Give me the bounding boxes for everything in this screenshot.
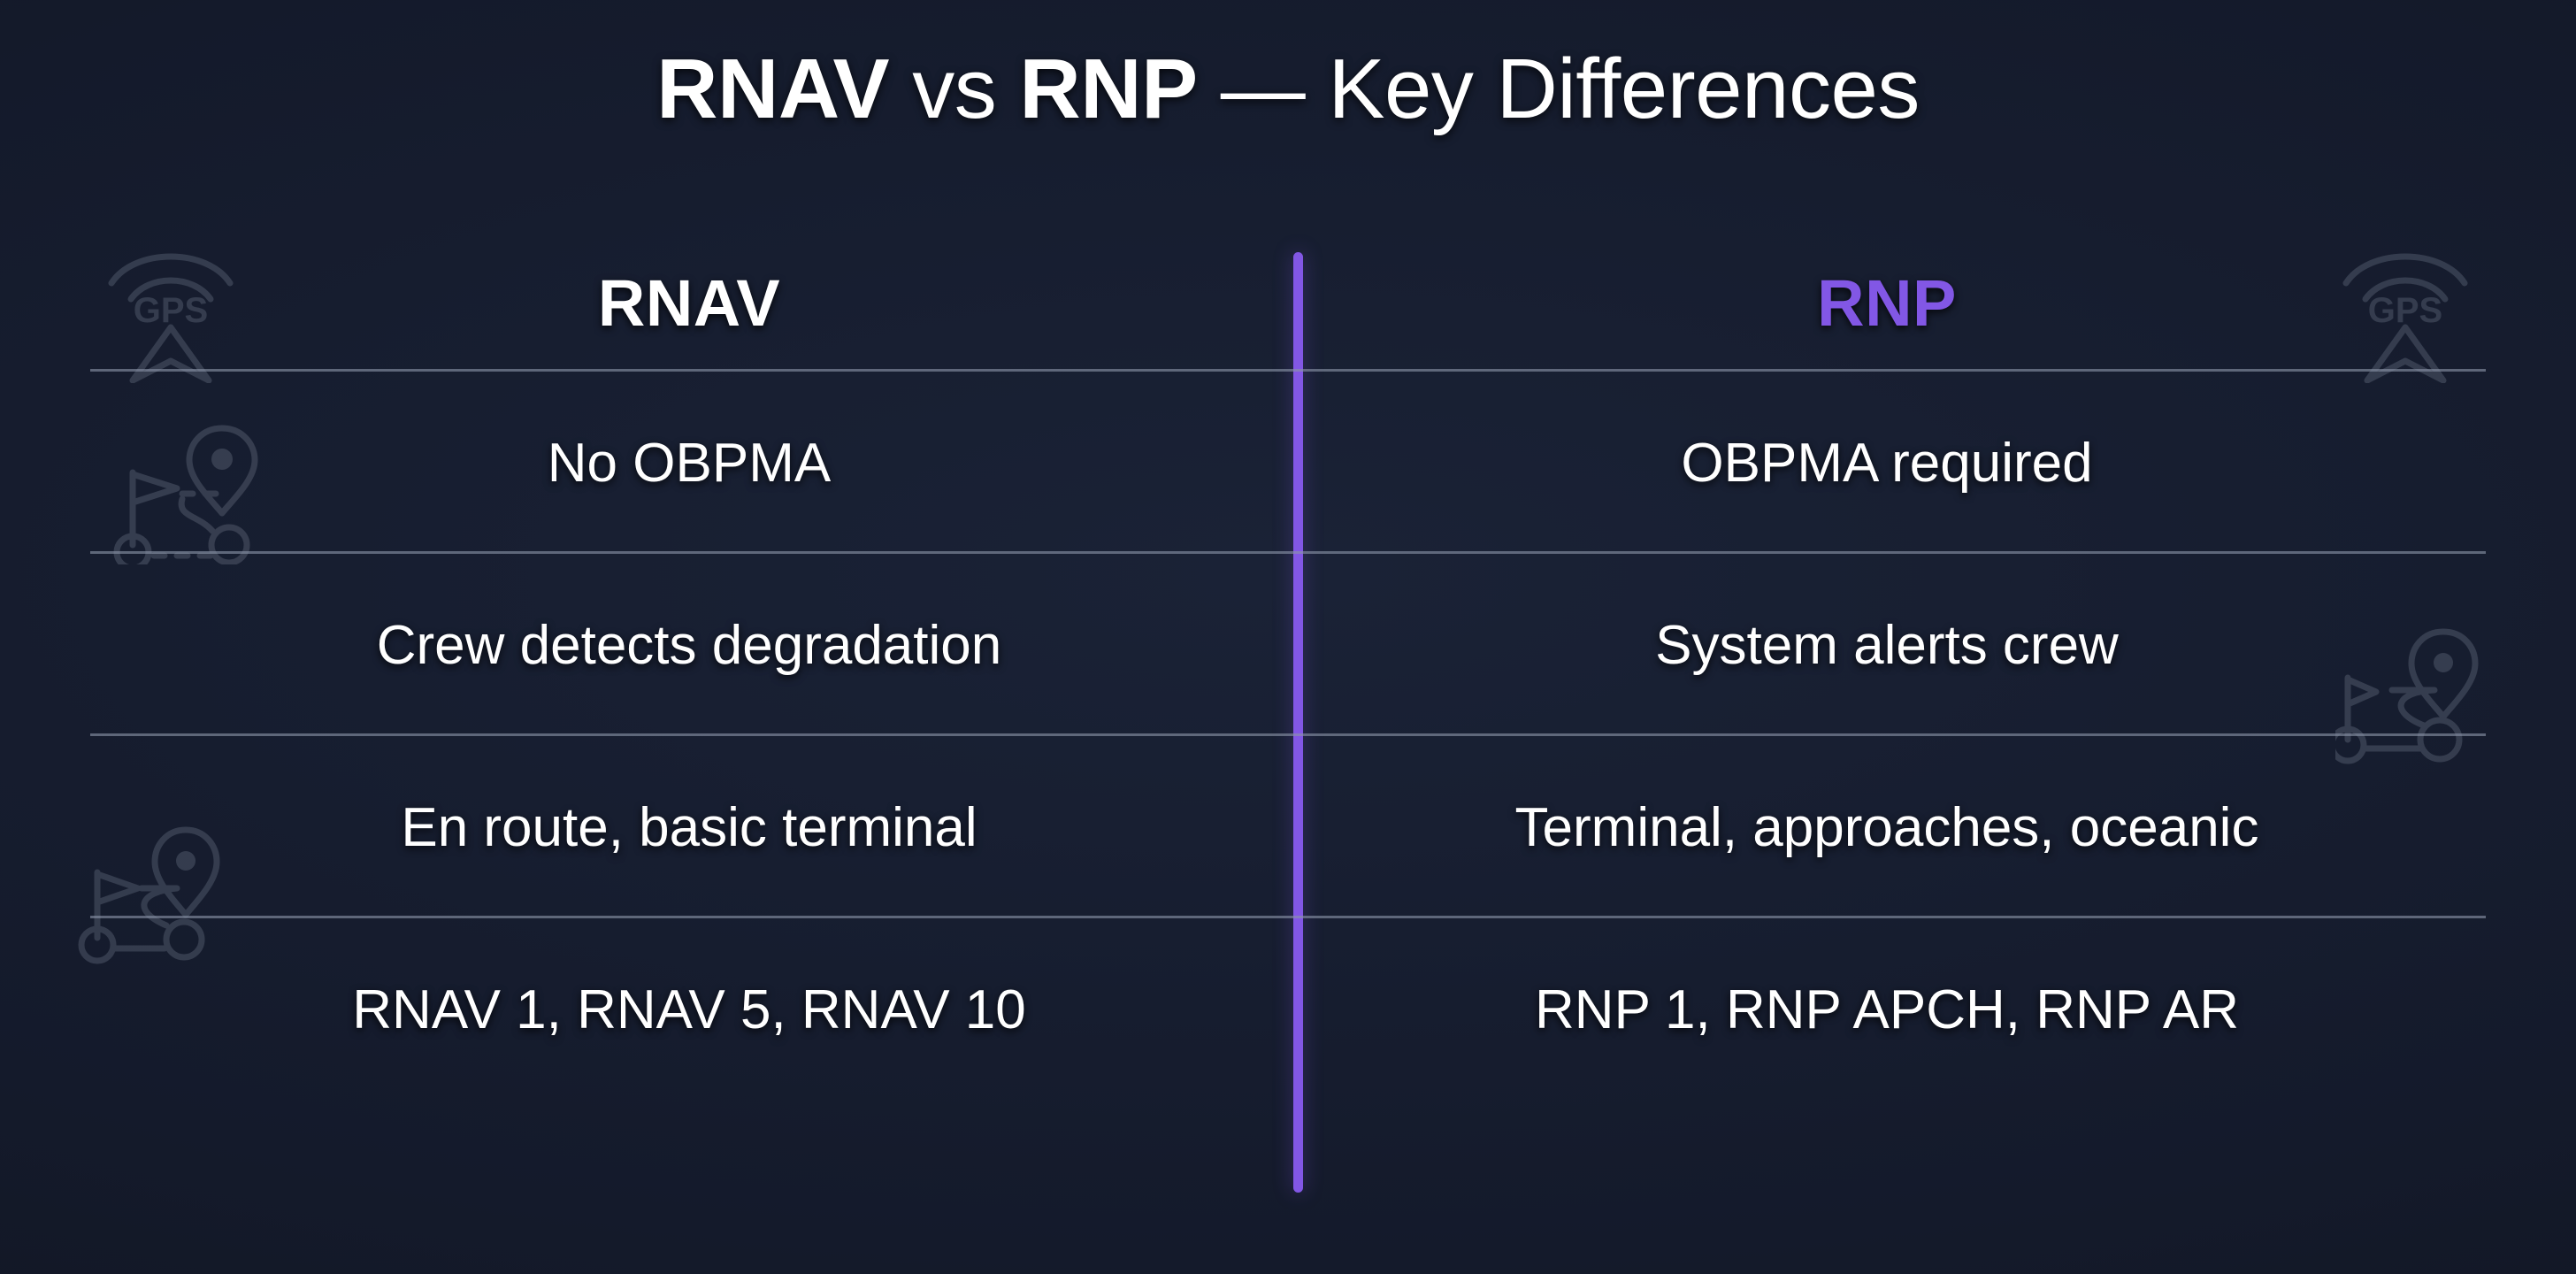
table-row: RNAV 1, RNAV 5, RNAV 10 RNP 1, RNP APCH,… (90, 918, 2486, 1101)
table-row: Crew detects degradation System alerts c… (90, 554, 2486, 736)
cell-rnav-3: RNAV 1, RNAV 5, RNAV 10 (90, 979, 1288, 1041)
column-header-rnp: RNP (1288, 265, 2486, 341)
title-suffix: — Key Differences (1198, 42, 1920, 136)
cell-rnav-0: No OBPMA (90, 432, 1288, 495)
column-header-rnav: RNAV (90, 265, 1288, 341)
table-header-row: RNAV RNP (90, 234, 2486, 372)
title-term-rnp: RNP (1019, 42, 1197, 136)
cell-rnp-1: System alerts crew (1288, 614, 2486, 677)
table-row: No OBPMA OBPMA required (90, 372, 2486, 554)
cell-rnp-0: OBPMA required (1288, 432, 2486, 495)
cell-rnp-2: Terminal, approaches, oceanic (1288, 796, 2486, 859)
cell-rnp-3: RNP 1, RNP APCH, RNP AR (1288, 979, 2486, 1041)
cell-rnav-2: En route, basic terminal (90, 796, 1288, 859)
table-row: En route, basic terminal Terminal, appro… (90, 736, 2486, 918)
comparison-table: RNAV RNP No OBPMA OBPMA required Crew de… (90, 234, 2486, 1101)
cell-rnav-1: Crew detects degradation (90, 614, 1288, 677)
page-title: RNAV vs RNP — Key Differences (0, 42, 2576, 136)
slide-root: { "slide": { "title": { "part1": "RNAV",… (0, 0, 2576, 1274)
title-term-rnav: RNAV (656, 42, 889, 136)
title-connector: vs (889, 42, 1019, 136)
